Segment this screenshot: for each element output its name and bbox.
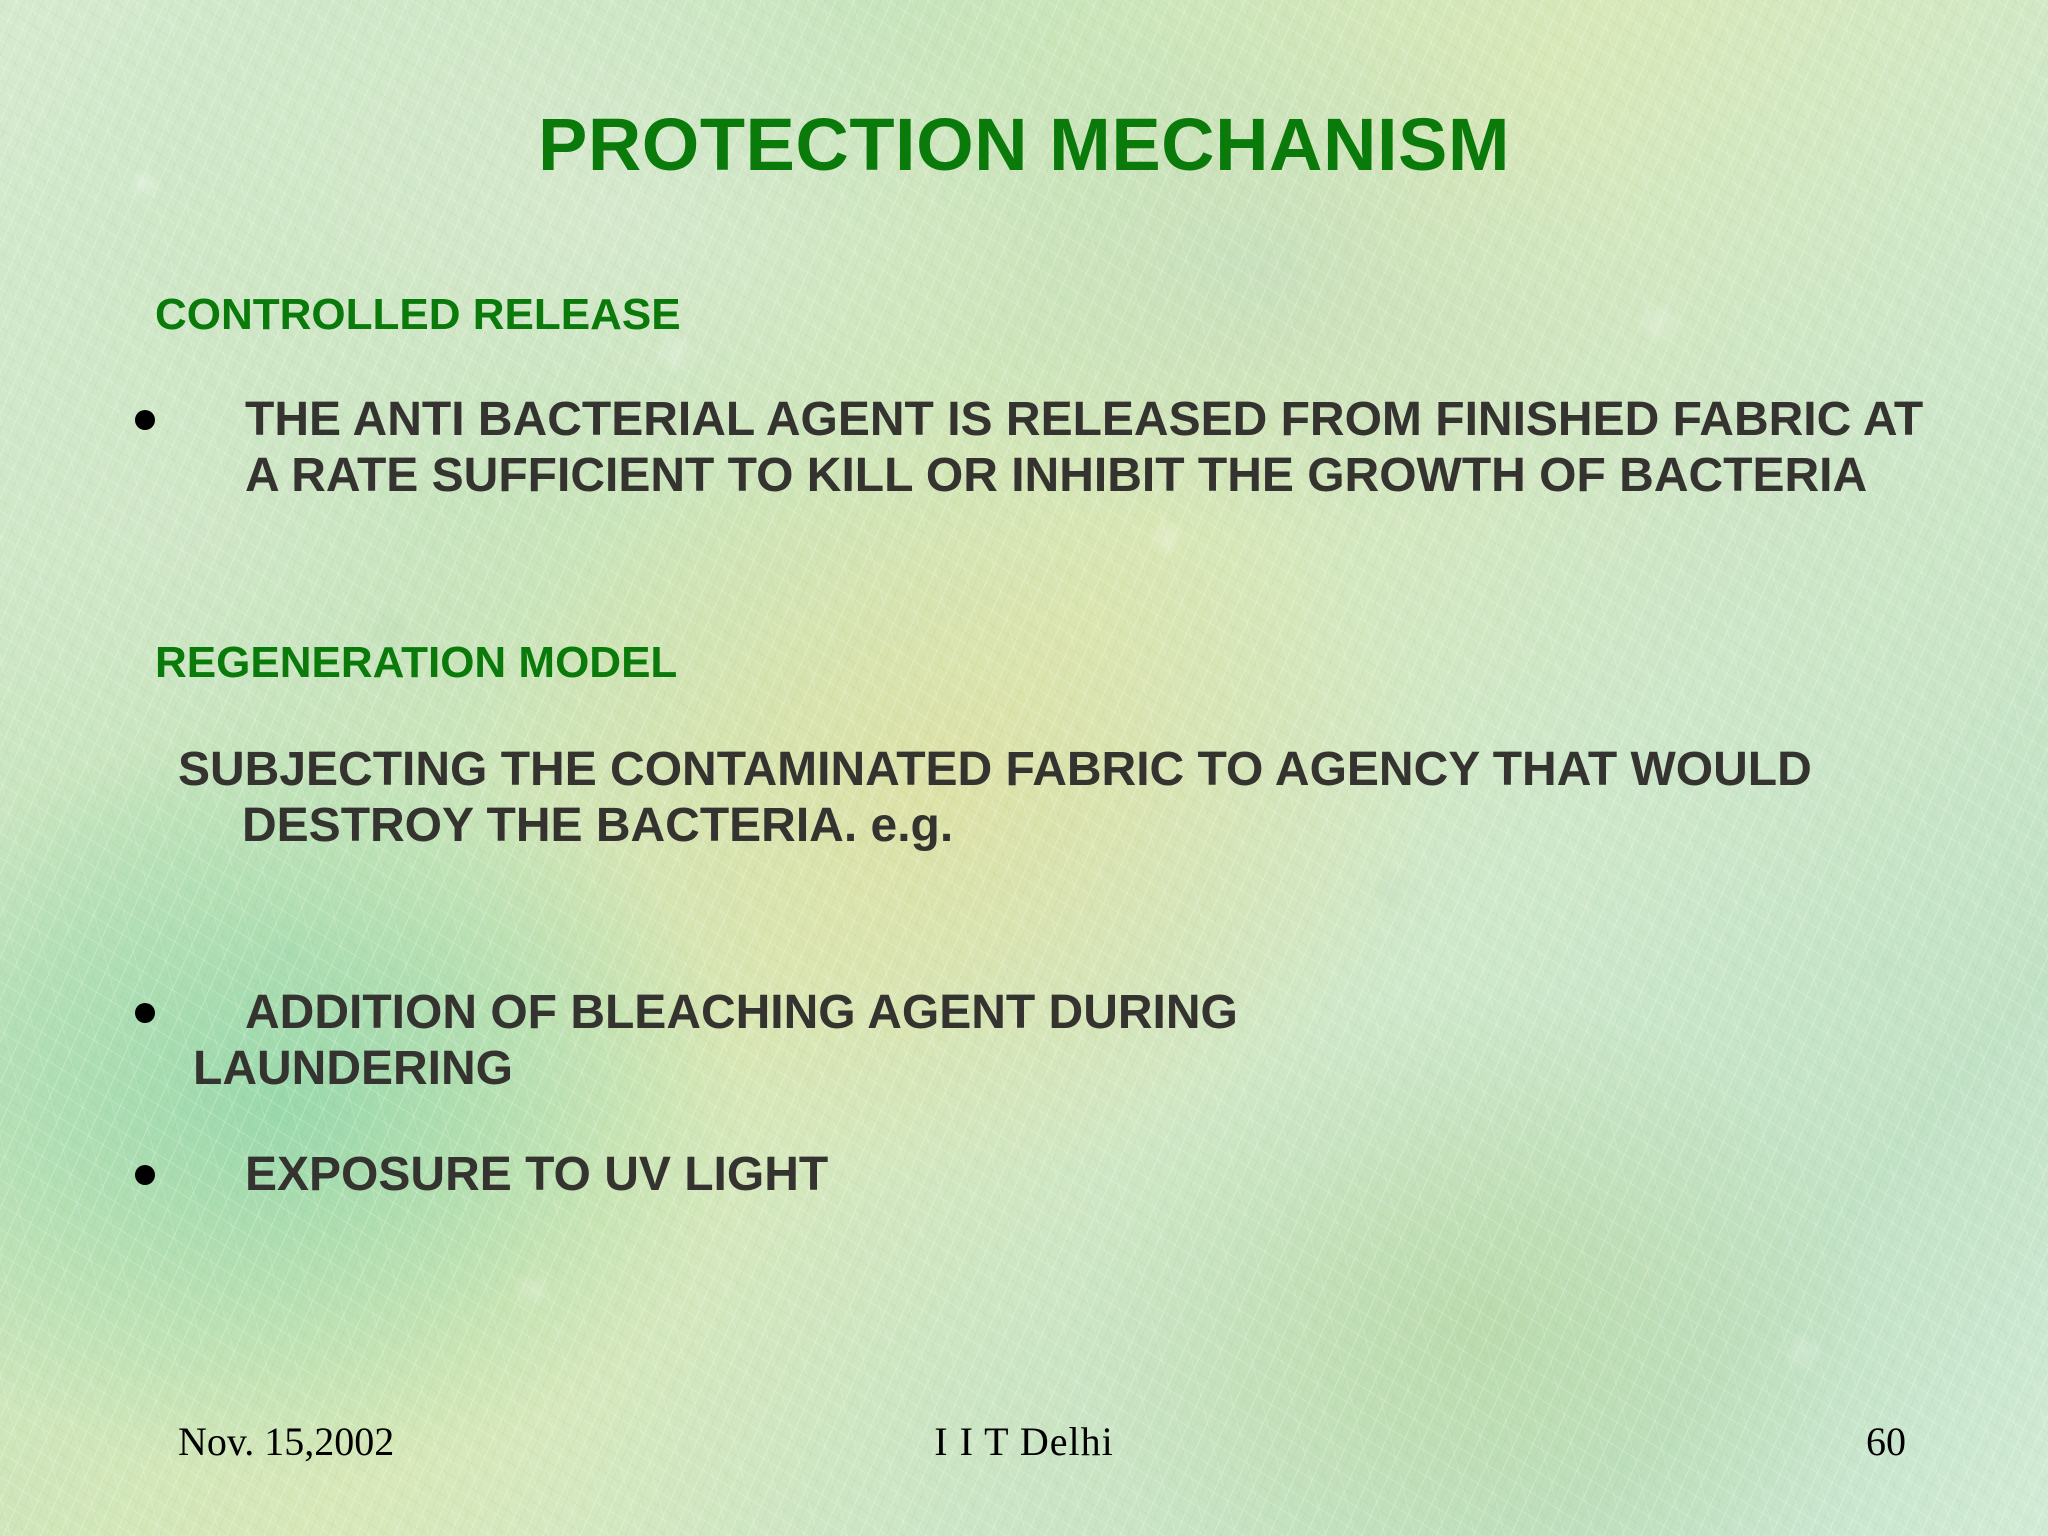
paragraph-first-line: SUBJECTING THE CONTAMINATED FABRIC TO <box>178 743 1263 796</box>
section-heading-controlled-release: CONTROLLED RELEASE <box>155 292 681 338</box>
bullet-item-anti-bacterial-agent: THE ANTI BACTERIAL AGENT IS RELEASED FRO… <box>135 392 1925 503</box>
bullet-dot-icon <box>135 410 155 430</box>
bullet-dot-icon <box>135 1003 155 1023</box>
bullet-text: ADDITION OF BLEACHING AGENT DURING LAUND… <box>135 985 1895 1096</box>
slide-content: PROTECTION MECHANISM CONTROLLED RELEASE … <box>0 0 2048 1536</box>
bullet-text: THE ANTI BACTERIAL AGENT IS RELEASED FRO… <box>245 392 1925 503</box>
bullet-item-uv-light: EXPOSURE TO UV LIGHT <box>135 1147 1635 1203</box>
bullet-dot-icon <box>135 1165 155 1185</box>
bullet-item-bleaching-agent: ADDITION OF BLEACHING AGENT DURING LAUND… <box>135 985 1895 1096</box>
bullet-text-line-2: LAUNDERING <box>193 1041 1895 1097</box>
paragraph-subjecting-contaminated-fabric: SUBJECTING THE CONTAMINATED FABRIC TO AG… <box>178 742 2002 853</box>
bullet-text: EXPOSURE TO UV LIGHT <box>245 1147 1635 1203</box>
slide-footer: Nov. 15,2002 I I T Delhi 60 <box>0 1418 2048 1478</box>
section-heading-regeneration-model: REGENERATION MODEL <box>155 640 677 686</box>
slide-title: PROTECTION MECHANISM <box>0 108 2048 182</box>
slide-canvas: PROTECTION MECHANISM CONTROLLED RELEASE … <box>0 0 2048 1536</box>
bullet-text-line-1: ADDITION OF BLEACHING AGENT DURING <box>245 986 1238 1039</box>
footer-organization: I I T Delhi <box>0 1418 2048 1465</box>
footer-page-number: 60 <box>1866 1418 1906 1465</box>
